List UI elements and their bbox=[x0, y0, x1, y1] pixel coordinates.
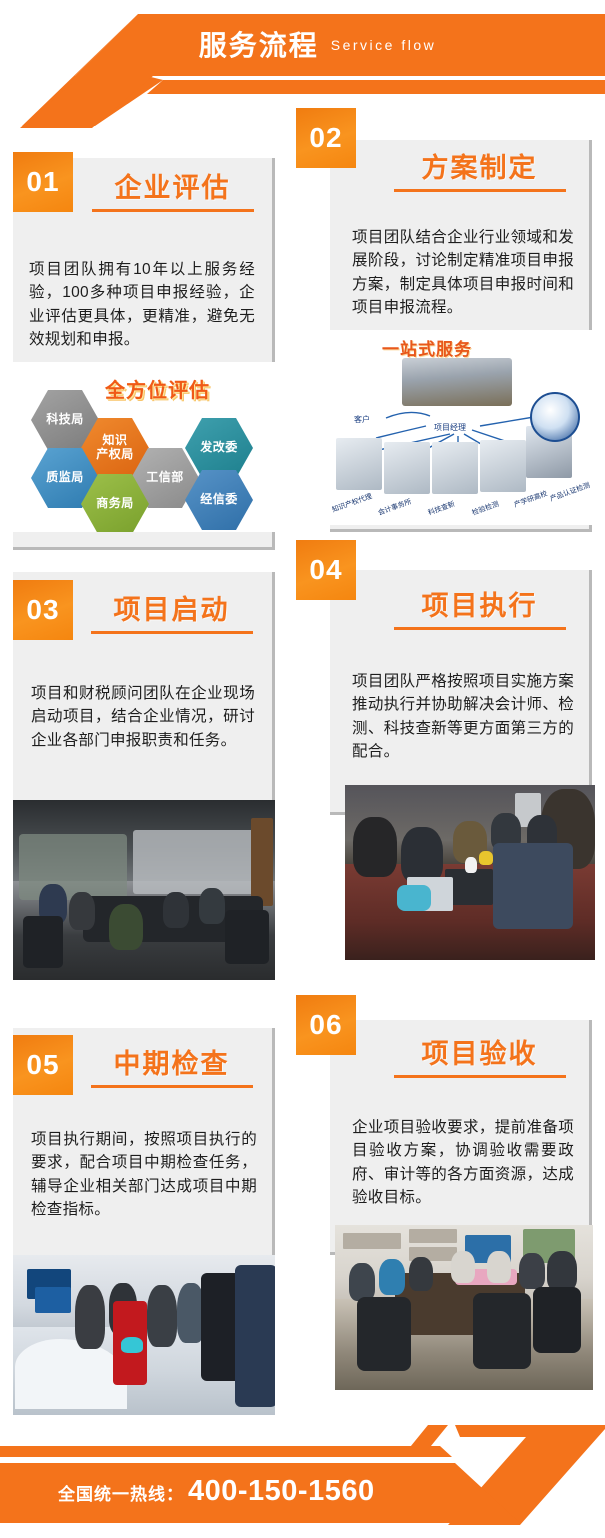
step-card-04-title: 项目执行 bbox=[422, 592, 538, 622]
step-card-01-title: 企业评估 bbox=[115, 174, 231, 204]
hotline-group: 全国统一热线： 400-150-1560 bbox=[58, 1475, 375, 1511]
step-badge-02: 02 bbox=[296, 108, 356, 168]
hexagon-chart-title: 全方位评估 bbox=[105, 374, 210, 403]
boardroom-photo bbox=[335, 1225, 593, 1390]
meeting-laptops-photo bbox=[345, 785, 595, 960]
step-card-04-header: 项目执行 bbox=[330, 592, 589, 630]
one-stop-service-diagram: 一站式服务 客户 项目经理 知识产权代理 会计事务所 科技查新 检验检测 产学研… bbox=[330, 330, 592, 525]
header-title-group: 服务流程 Service flow bbox=[0, 22, 605, 70]
site-visit-photo bbox=[13, 1255, 275, 1415]
step-card-05-title: 中期检查 bbox=[114, 1050, 230, 1080]
title-underline bbox=[394, 1075, 566, 1078]
step-card-06-body: 企业项目验收要求，提前准备项目验收方案，协调验收需要政府、审计等的各方面资源，达… bbox=[352, 1116, 574, 1209]
step-card-03-body: 项目和财税顾问团队在企业现场启动项目，结合企业情况，研讨企业各部门申报职责和任务… bbox=[31, 682, 255, 752]
step-card-06-title: 项目验收 bbox=[422, 1040, 538, 1070]
hex-node-fagai: 发改委 bbox=[185, 418, 253, 478]
step-card-01-body: 项目团队拥有10年以上服务经验，100多种项目申报经验，企业评估更具体，更精准，… bbox=[29, 258, 255, 351]
step-card-04[interactable]: 项目执行 项目团队严格按照项目实施方案推动执行并协助解决会计师、检测、科技查新等… bbox=[330, 570, 592, 815]
hotline-label: 全国统一热线： bbox=[58, 1480, 184, 1505]
title-underline bbox=[91, 1085, 253, 1088]
step-card-06[interactable]: 项目验收 企业项目验收要求，提前准备项目验收方案，协调验收需要政府、审计等的各方… bbox=[330, 1020, 592, 1255]
conference-room-photo bbox=[13, 800, 275, 980]
step-badge-04: 04 bbox=[296, 540, 356, 600]
page-footer: 全国统一热线： 400-150-1560 bbox=[0, 1425, 605, 1538]
step-card-02-title: 方案制定 bbox=[422, 154, 538, 184]
hexagon-assessment-chart: 全方位评估 科技局 知识 产权局 质监局 工信部 商务局 发改委 经信委 bbox=[13, 362, 275, 532]
oss-tile-4 bbox=[480, 440, 526, 492]
certification-seal-icon bbox=[530, 392, 580, 442]
step-badge-03: 03 bbox=[13, 580, 73, 640]
step-card-02-header: 方案制定 bbox=[330, 154, 589, 192]
oss-tile-3 bbox=[432, 442, 478, 494]
oss-tile-1 bbox=[336, 438, 382, 490]
title-underline bbox=[92, 209, 254, 212]
oss-tile-2 bbox=[384, 442, 430, 494]
title-underline bbox=[394, 627, 566, 630]
page-title: 服务流程 bbox=[199, 32, 319, 60]
step-card-06-header: 项目验收 bbox=[330, 1040, 589, 1078]
page-title-subtitle: Service flow bbox=[331, 38, 436, 54]
title-underline bbox=[91, 631, 253, 634]
page-header: 服务流程 Service flow bbox=[0, 0, 605, 112]
step-badge-06: 06 bbox=[296, 995, 356, 1055]
step-card-04-body: 项目团队严格按照项目实施方案推动执行并协助解决会计师、检测、科技查新等更方面第三… bbox=[352, 670, 574, 763]
step-badge-01: 01 bbox=[13, 152, 73, 212]
step-card-05-body: 项目执行期间，按照项目执行的要求，配合项目中期检查任务，辅导企业相关部门达成项目… bbox=[31, 1128, 257, 1221]
step-card-02-body: 项目团队结合企业行业领域和发展阶段，讨论制定精准项目申报方案，制定具体项目申报时… bbox=[352, 226, 574, 319]
step-card-03-title: 项目启动 bbox=[114, 596, 230, 626]
hotline-number[interactable]: 400-150-1560 bbox=[188, 1475, 375, 1508]
title-underline bbox=[394, 189, 566, 192]
step-badge-05: 05 bbox=[13, 1035, 73, 1095]
